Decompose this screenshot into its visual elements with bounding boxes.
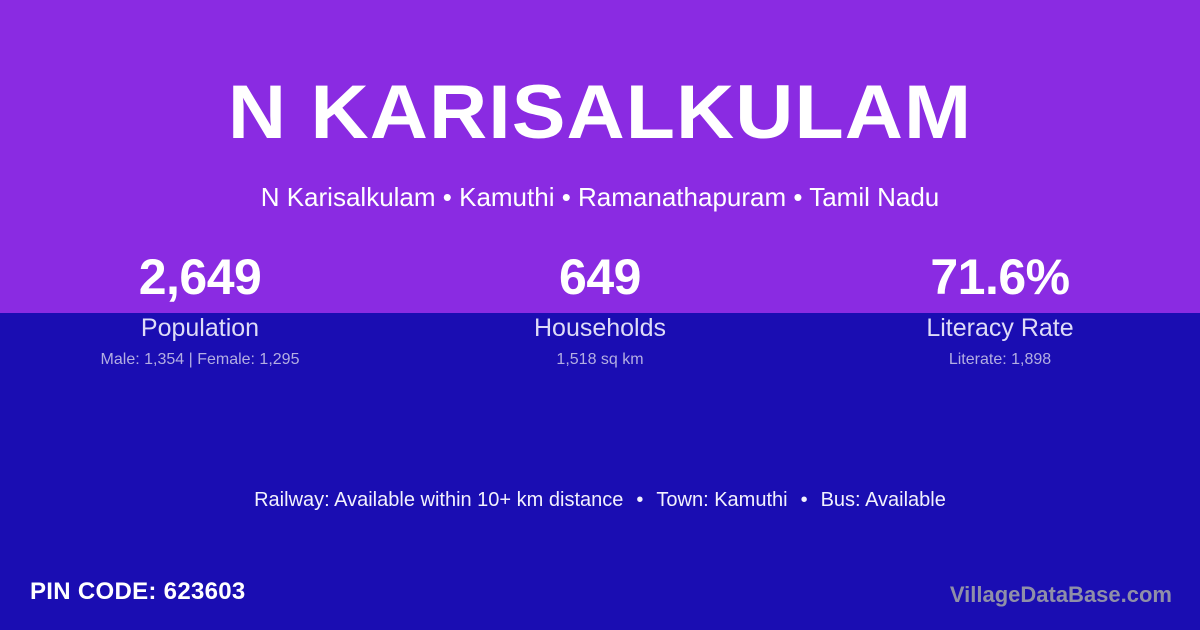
amenities-line: Railway: Available within 10+ km distanc… [0,487,1200,513]
site-brand: VillageDataBase.com [950,581,1172,609]
page-title: N KARISALKULAM [0,74,1200,152]
amenity-bus: Bus: Available [821,489,946,511]
stat-population: 2,649 Population Male: 1,354 | Female: 1… [0,248,400,388]
stat-value: 71.6% [800,248,1200,313]
stat-label: Population [0,313,400,343]
stat-sublabel: Male: 1,354 | Female: 1,295 [0,350,400,370]
stat-value: 2,649 [0,248,400,313]
stat-value: 649 [400,248,800,313]
amenity-railway: Railway: Available within 10+ km distanc… [254,489,623,511]
stat-label: Households [400,313,800,343]
stats-row: 2,649 Population Male: 1,354 | Female: 1… [0,248,1200,388]
stat-sublabel: Literate: 1,898 [800,350,1200,370]
bullet-separator-icon: • [623,487,656,513]
bullet-separator-icon: • [788,487,821,513]
stat-sublabel: 1,518 sq km [400,350,800,370]
breadcrumb: N Karisalkulam • Kamuthi • Ramanathapura… [0,182,1200,212]
village-info-card: N KARISALKULAM N Karisalkulam • Kamuthi … [0,0,1200,630]
stat-households: 649 Households 1,518 sq km [400,248,800,388]
stat-literacy-rate: 71.6% Literacy Rate Literate: 1,898 [800,248,1200,388]
amenity-town: Town: Kamuthi [656,489,787,511]
stat-label: Literacy Rate [800,313,1200,343]
pin-code: PIN CODE: 623603 [30,577,246,607]
